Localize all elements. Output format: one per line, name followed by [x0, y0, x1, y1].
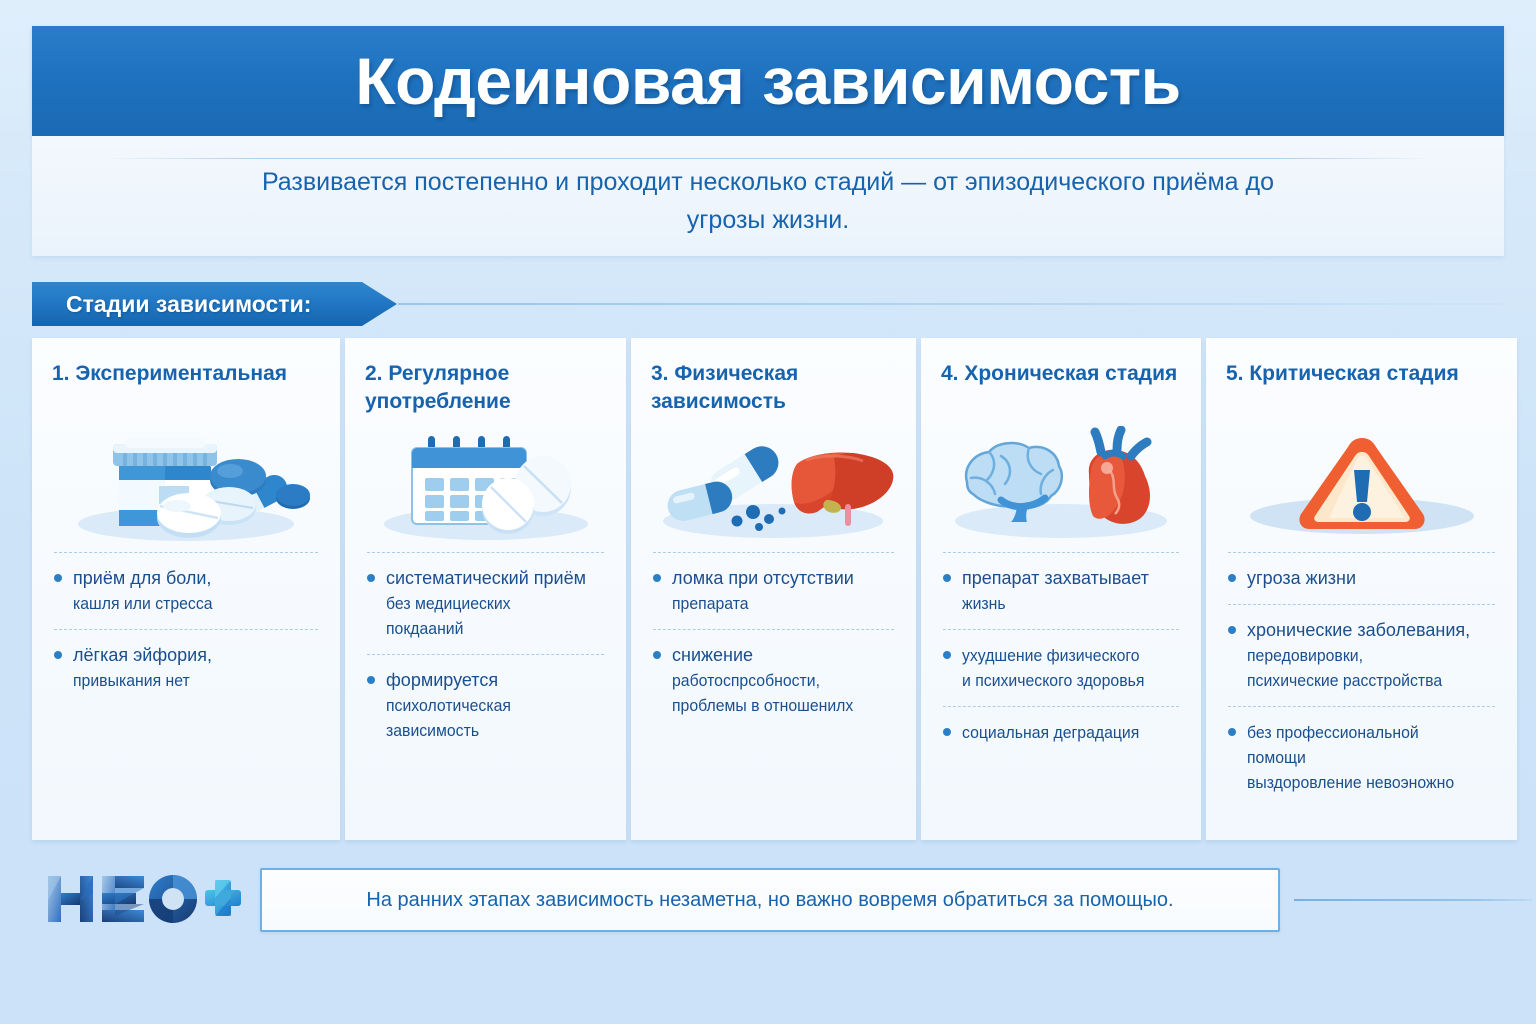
bullet-dot-icon — [367, 574, 375, 582]
bullet-line-2: и психического здоровья — [962, 668, 1144, 693]
bullet-line-2: психолотическая зависимость — [386, 693, 589, 743]
bullet-dot-icon — [943, 728, 951, 736]
bullet-line-1: приём для боли, — [73, 568, 211, 588]
stage-bullet-list: угроза жизни хронические заболевания, пе… — [1226, 552, 1497, 826]
bullet-dot-icon — [1228, 728, 1236, 736]
bullet-line-2: привыкания нет — [73, 668, 202, 693]
bullet-line-3: проблемы в отношенилх — [672, 693, 853, 718]
footer-note-box: На ранних этапах зависимость незаметна, … — [260, 868, 1280, 932]
bullet-item: без профессиональной помощи выздоровлени… — [1226, 707, 1497, 808]
stage-card-title: 1. Экспериментальная — [52, 360, 320, 420]
pill-bottle-icon — [52, 424, 320, 544]
bullet-line-1: социальная деградация — [962, 720, 1139, 745]
section-header: Стадии зависимости: — [32, 282, 1504, 326]
stage-card-title: 4. Хроническая стадия — [941, 360, 1181, 420]
bullet-line-2: жизнь — [962, 591, 1136, 616]
bullet-line-2: кашля или стресса — [73, 591, 213, 616]
stage-card-5: 5. Критическая стадия угроза жизни — [1206, 338, 1517, 840]
bullet-line-1: систематический приём — [386, 568, 586, 588]
stage-card-title: 5. Критическая стадия — [1226, 360, 1497, 420]
bullet-dot-icon — [1228, 626, 1236, 634]
bullet-item: формируется психолотическая зависимость — [365, 655, 606, 756]
stage-card-title: 2. Регулярное употребление — [365, 360, 606, 420]
title-banner: Кодеиновая зависимость — [32, 26, 1504, 136]
subtitle-text: Развивается постепенно и проходит нескол… — [243, 153, 1293, 239]
bullet-dot-icon — [367, 676, 375, 684]
stage-bullet-list: систематический приём без медициеских по… — [365, 552, 606, 826]
bullet-item: лёгкая эйфория, привыкания нет — [52, 630, 320, 706]
bullet-dot-icon — [943, 651, 951, 659]
bullet-line-1: угроза жизни — [1247, 568, 1356, 588]
stage-card-2: 2. Регулярное употребление — [345, 338, 626, 840]
bullet-line-1: хронические заболевания, — [1247, 620, 1470, 640]
page-title: Кодеиновая зависимость — [355, 43, 1180, 119]
stage-card-4: 4. Хроническая стадия — [921, 338, 1201, 840]
bullet-item: систематический приём без медициеских по… — [365, 553, 606, 654]
bullet-dot-icon — [653, 651, 661, 659]
bullet-line-1: лёгкая эйфория, — [73, 645, 212, 665]
footer: На ранних этапах зависимость незаметна, … — [32, 856, 1504, 956]
bullet-line-1: формируется — [386, 670, 498, 690]
bullet-dot-icon — [54, 574, 62, 582]
footer-note-text: На ранних этапах зависимость незаметна, … — [366, 889, 1173, 912]
subtitle-divider — [102, 158, 1434, 159]
stage-card-title: 3. Физическая зависимость — [651, 360, 896, 420]
section-tab-arrow: Стадии зависимости: — [32, 282, 397, 326]
bullet-line-1: снижение — [672, 645, 753, 665]
stage-card-list: 1. Экспериментальная — [32, 338, 1504, 840]
bullet-line-1: ухудшение физического — [962, 643, 1144, 668]
bullet-line-2: передовировки, — [1247, 643, 1455, 668]
bullet-line-2: без медициеских покдааний — [386, 591, 589, 641]
calendar-pills-icon — [365, 424, 606, 544]
bullet-item: ломка при отсутствии препарата — [651, 553, 896, 629]
stage-bullet-list: препарат захватывает жизнь ухудшение физ… — [941, 552, 1181, 826]
bullet-line-1: ломка при отсутствии — [672, 568, 854, 588]
section-tab-label: Стадии зависимости: — [66, 291, 311, 318]
bullet-item: снижение работоспрсобности, проблемы в о… — [651, 630, 896, 731]
bullet-dot-icon — [653, 574, 661, 582]
stage-card-3: 3. Физическая зависимость — [631, 338, 916, 840]
bullet-line-2: выздоровление невоэножно — [1247, 770, 1478, 795]
bullet-line-1: препарат захватывает — [962, 568, 1149, 588]
brand-logo — [44, 870, 244, 928]
warning-triangle-icon — [1226, 424, 1497, 544]
footer-rule — [1294, 899, 1532, 901]
bullet-item: препарат захватывает жизнь — [941, 553, 1181, 629]
bullet-item: ухудшение физического и психического здо… — [941, 630, 1181, 706]
bullet-line-2: препарата — [672, 591, 841, 616]
bullet-item: социальная деградация — [941, 707, 1181, 758]
bullet-dot-icon — [54, 651, 62, 659]
bullet-dot-icon — [943, 574, 951, 582]
bullet-item: хронические заболевания, передовировки, … — [1226, 605, 1497, 706]
stage-card-1: 1. Экспериментальная — [32, 338, 340, 840]
subtitle-panel: Развивается постепенно и проходит нескол… — [32, 136, 1504, 256]
section-tab-rule — [398, 303, 1504, 305]
capsule-liver-icon — [651, 424, 896, 544]
bullet-line-3: психические расстройства — [1247, 668, 1455, 693]
bullet-item: приём для боли, кашля или стресса — [52, 553, 320, 629]
bullet-item: угроза жизни — [1226, 553, 1497, 604]
brain-heart-icon — [941, 424, 1181, 544]
bullet-line-1: без профессиональной помощи — [1247, 720, 1478, 770]
bullet-line-2: работоспрсобности, — [672, 668, 853, 693]
stage-bullet-list: приём для боли, кашля или стресса лёгкая… — [52, 552, 320, 826]
stage-bullet-list: ломка при отсутствии препарата снижение … — [651, 552, 896, 826]
bullet-dot-icon — [1228, 574, 1236, 582]
